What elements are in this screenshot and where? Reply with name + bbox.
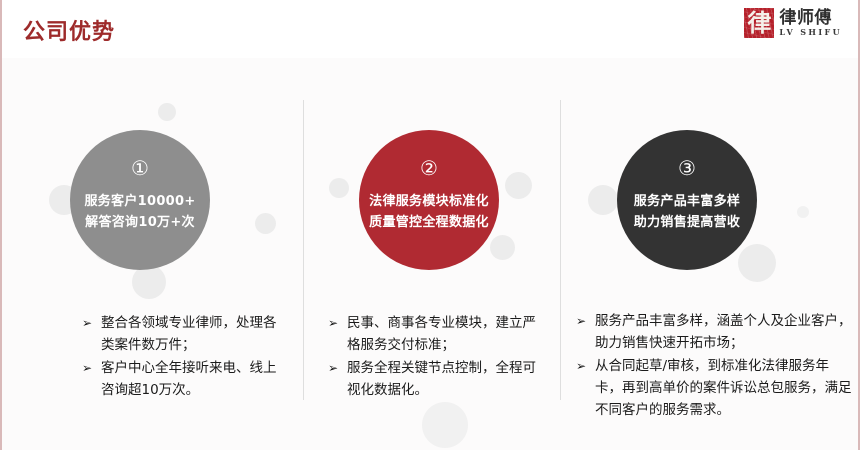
bullet-item: ➢ 服务全程关键节点控制，全程可视化数据化。 — [328, 357, 538, 401]
seal-icon: 律 — [744, 8, 774, 38]
bullet-arrow-icon: ➢ — [328, 312, 347, 334]
circle-caption-line: 质量管控全程数据化 — [369, 212, 489, 233]
circle-number-3: ③ — [678, 158, 696, 178]
advantage-circle-2[interactable]: ② 法律服务模块标准化 质量管控全程数据化 — [359, 130, 499, 270]
bullet-text: 民事、商事各专业模块，建立严格服务交付标准； — [347, 312, 538, 356]
logo-text-block: 律师傅 LV SHIFU — [779, 10, 842, 37]
bullet-item: ➢ 民事、商事各专业模块，建立严格服务交付标准； — [328, 312, 538, 356]
circle-caption-line: 服务客户10000+ — [84, 191, 195, 212]
bullet-arrow-icon: ➢ — [576, 310, 595, 332]
advantage-circle-1[interactable]: ① 服务客户10000+ 解答咨询10万+次 — [70, 130, 210, 270]
bullet-arrow-icon: ➢ — [82, 312, 101, 334]
bullet-item: ➢ 服务产品丰富多样，涵盖个人及企业客户，助力销售快速开拓市场； — [576, 310, 852, 354]
bullet-arrow-icon: ➢ — [328, 357, 347, 379]
circle-number-1: ① — [131, 158, 149, 178]
seal-character: 律 — [747, 8, 771, 38]
logo-brand-name: 律师傅 — [779, 10, 842, 27]
bullet-item: ➢ 从合同起草/审核，到标准化法律服务年卡，再到高单价的案件诉讼总包服务，满足不… — [576, 355, 852, 421]
bullet-text: 客户中心全年接听来电、线上咨询超10万次。 — [101, 357, 282, 401]
advantage-bullets-2: ➢ 民事、商事各专业模块，建立严格服务交付标准； ➢ 服务全程关键节点控制，全程… — [328, 312, 538, 402]
advantage-circle-3[interactable]: ③ 服务产品丰富多样 助力销售提高营收 — [617, 130, 757, 270]
circle-caption-1: 服务客户10000+ 解答咨询10万+次 — [84, 191, 195, 233]
page-title: 公司优势 — [23, 14, 115, 46]
bullet-text: 整合各领域专业律师，处理各类案件数万件； — [101, 312, 282, 356]
circle-caption-2: 法律服务模块标准化 质量管控全程数据化 — [369, 191, 489, 233]
logo-brand-pinyin: LV SHIFU — [779, 27, 842, 37]
bullet-text: 服务产品丰富多样，涵盖个人及企业客户，助力销售快速开拓市场； — [595, 310, 852, 354]
circle-caption-line: 服务产品丰富多样 — [634, 191, 740, 212]
bullet-text: 从合同起草/审核，到标准化法律服务年卡，再到高单价的案件诉讼总包服务，满足不同客… — [595, 355, 852, 421]
advantage-bullets-1: ➢ 整合各领域专业律师，处理各类案件数万件； ➢ 客户中心全年接听来电、线上咨询… — [82, 312, 282, 402]
advantage-column-2: ② 法律服务模块标准化 质量管控全程数据化 ➢ 民事、商事各专业模块，建立严格服… — [303, 58, 560, 450]
circle-caption-3: 服务产品丰富多样 助力销售提高营收 — [634, 191, 740, 233]
bullet-arrow-icon: ➢ — [82, 357, 101, 379]
circle-caption-line: 解答咨询10万+次 — [84, 212, 195, 233]
circle-number-2: ② — [420, 158, 438, 178]
bullet-text: 服务全程关键节点控制，全程可视化数据化。 — [347, 357, 538, 401]
circle-caption-line: 法律服务模块标准化 — [369, 191, 489, 212]
advantage-bullets-3: ➢ 服务产品丰富多样，涵盖个人及企业客户，助力销售快速开拓市场； ➢ 从合同起草… — [576, 310, 852, 422]
slide-canvas: 公司优势 律 律师傅 LV SHIFU ① 服务客户10000+ 解答咨询10万… — [0, 0, 860, 450]
advantage-column-1: ① 服务客户10000+ 解答咨询10万+次 ➢ 整合各领域专业律师，处理各类案… — [2, 58, 303, 450]
header-bar: 公司优势 律 律师傅 LV SHIFU — [2, 0, 858, 58]
bullet-arrow-icon: ➢ — [576, 355, 595, 377]
brand-logo: 律 律师傅 LV SHIFU — [744, 6, 842, 40]
circle-caption-line: 助力销售提高营收 — [634, 212, 740, 233]
advantage-column-3: ③ 服务产品丰富多样 助力销售提高营收 ➢ 服务产品丰富多样，涵盖个人及企业客户… — [560, 58, 860, 450]
bullet-item: ➢ 整合各领域专业律师，处理各类案件数万件； — [82, 312, 282, 356]
bullet-item: ➢ 客户中心全年接听来电、线上咨询超10万次。 — [82, 357, 282, 401]
